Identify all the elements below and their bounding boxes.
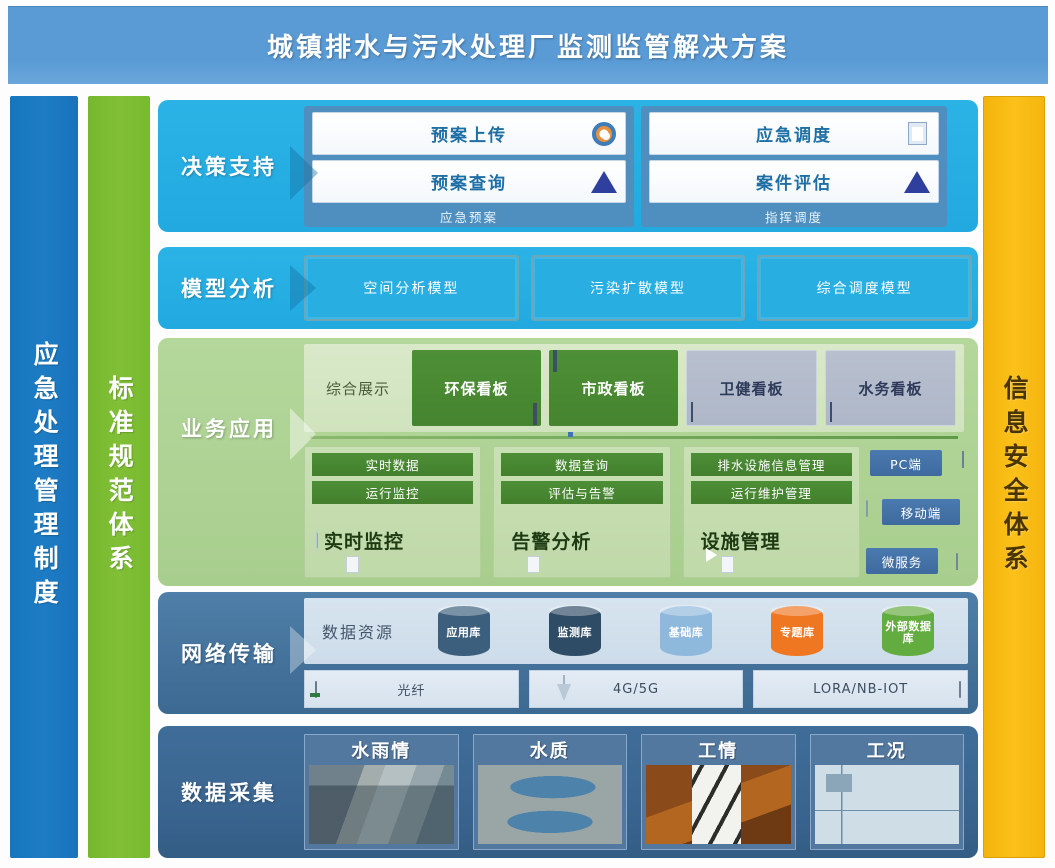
business-column-facility: 排水设施信息管理 运行维护管理 设施管理 — [683, 446, 860, 578]
globe-icon — [316, 531, 318, 550]
data-card-operating-condition-label: 工况 — [811, 735, 964, 765]
laptop-icon — [962, 452, 964, 467]
board-municipal-label: 市政看板 — [581, 378, 645, 399]
data-resource-panel: 数据资源 应用库 监测库 基础库 专题库 — [304, 598, 968, 664]
monitor-icon — [553, 352, 557, 370]
data-card-engineering-status-photo — [646, 765, 791, 844]
business-feature-realtime-monitoring[interactable]: 实时监控 — [312, 509, 473, 571]
layer-network-transmission-label: 网络传输 — [158, 592, 300, 714]
layer-data-collection-label: 数据采集 — [158, 726, 300, 858]
document-icon — [346, 556, 359, 573]
decision-button-plan-upload[interactable]: 预案上传 — [312, 112, 626, 155]
business-feature-facility-management[interactable]: 设施管理 — [691, 509, 852, 571]
data-card-operating-condition-photo — [815, 765, 960, 844]
board-water-affairs[interactable]: 水务看板 — [825, 350, 956, 426]
layer-model-analysis: 模型分析 空间分析模型 污染扩散模型 综合调度模型 — [158, 247, 978, 329]
data-card-water-quality[interactable]: 水质 — [473, 734, 628, 850]
decision-button-emergency-dispatch[interactable]: 应急调度 — [649, 112, 939, 155]
terminal-microservice-label: 微服务 — [882, 552, 923, 571]
layer-model-analysis-label: 模型分析 — [158, 247, 300, 329]
recycle-upload-icon — [591, 121, 617, 147]
network-link-cellular[interactable]: 4G/5G — [529, 670, 744, 708]
decision-group-emergency-plan: 预案上传 预案查询 应急预案 — [304, 106, 634, 227]
database-app[interactable]: 应用库 — [438, 606, 490, 656]
diagram-header: 城镇排水与污水处理厂监测监管解决方案 — [8, 6, 1048, 84]
layer-network-transmission: 网络传输 数据资源 应用库 监测库 基础库 专题库 — [158, 592, 978, 714]
sensor-module-icon — [959, 682, 961, 697]
database-thematic[interactable]: 专题库 — [771, 606, 823, 656]
comprehensive-display-row: 综合展示 环保看板 市政看板 卫健看板 水务看板 — [304, 344, 964, 432]
layer-data-collection: 数据采集 水雨情 水质 工情 工况 — [158, 726, 978, 858]
grid-calculator-icon — [904, 121, 930, 147]
database-monitoring-wrap: 监测库 — [525, 606, 624, 656]
document-icon — [527, 556, 540, 573]
data-card-operating-condition[interactable]: 工况 — [810, 734, 965, 850]
board-environmental-label: 环保看板 — [444, 378, 508, 399]
database-monitoring-label: 监测库 — [558, 623, 593, 639]
layer-decision-support-label: 决策支持 — [158, 100, 300, 232]
mouse-device-icon — [956, 554, 958, 569]
business-pill-assessment-alarm[interactable]: 评估与告警 — [501, 481, 662, 504]
database-external-wrap: 外部数据库 — [859, 606, 958, 656]
database-external-label: 外部数据库 — [882, 617, 934, 645]
model-item-integrated-dispatch[interactable]: 综合调度模型 — [757, 255, 972, 321]
mobile-phone-icon — [866, 501, 868, 516]
decision-button-emergency-dispatch-label: 应急调度 — [756, 121, 832, 146]
network-link-cellular-label: 4G/5G — [613, 682, 659, 697]
display-divider — [310, 436, 958, 439]
database-basic-wrap: 基础库 — [636, 606, 735, 656]
business-column-monitoring: 实时数据 运行监控 实时监控 — [304, 446, 481, 578]
data-card-water-quality-photo — [478, 765, 623, 844]
database-app-wrap: 应用库 — [414, 606, 513, 656]
database-external[interactable]: 外部数据库 — [882, 606, 934, 656]
decision-button-case-assessment-label: 案件评估 — [756, 169, 832, 194]
network-link-lora-label: LORA/NB-IOT — [813, 682, 908, 697]
network-icon — [830, 403, 832, 421]
data-card-water-quality-label: 水质 — [474, 735, 627, 765]
terminal-microservice[interactable]: 微服务 — [866, 548, 938, 574]
pillar-information-security: 信息安全体系 — [983, 96, 1045, 858]
terminal-pc-label: PC端 — [890, 454, 922, 473]
decision-button-case-assessment[interactable]: 案件评估 — [649, 160, 939, 203]
pyramid-icon — [904, 169, 930, 195]
decision-button-plan-query-label: 预案查询 — [431, 169, 507, 194]
pillar-emergency-label: 应急处理管理制度 — [31, 341, 57, 613]
layer-business-application-label: 业务应用 — [158, 398, 300, 458]
decision-button-plan-query[interactable]: 预案查询 — [312, 160, 626, 203]
network-link-lora[interactable]: LORA/NB-IOT — [753, 670, 968, 708]
document-icon — [721, 556, 734, 573]
business-pill-realtime-data[interactable]: 实时数据 — [312, 453, 473, 476]
data-card-engineering-status[interactable]: 工情 — [641, 734, 796, 850]
pillar-security-label: 信息安全体系 — [1001, 375, 1027, 579]
database-thematic-label: 专题库 — [780, 623, 815, 639]
decision-group-command-dispatch: 应急调度 案件评估 指挥调度 — [641, 106, 947, 227]
pyramid-icon — [591, 169, 617, 195]
database-thematic-wrap: 专题库 — [748, 606, 847, 656]
terminal-mobile-label: 移动端 — [901, 503, 942, 522]
pillar-emergency-management: 应急处理管理制度 — [10, 96, 78, 858]
layer-decision-support: 决策支持 预案上传 预案查询 应急预案 应急调度 案件评估 指挥调度 — [158, 100, 978, 232]
database-monitoring[interactable]: 监测库 — [549, 606, 601, 656]
layer-business-application: 业务应用 综合展示 环保看板 市政看板 卫健看板 水务看板 — [158, 338, 978, 586]
network-link-fiber[interactable]: 光纤 — [304, 670, 519, 708]
decision-group-emergency-plan-caption: 应急预案 — [312, 208, 626, 225]
business-feature-realtime-monitoring-label: 实时监控 — [324, 527, 404, 554]
display-divider-dot — [568, 432, 573, 437]
pillar-standards-system: 标准规范体系 — [88, 96, 150, 858]
business-column-list: 实时数据 运行监控 实时监控 数据查询 评估与告警 告警分析 排水设施信息管理 — [304, 446, 860, 578]
board-water-affairs-label: 水务看板 — [858, 378, 922, 399]
terminal-mobile[interactable]: 移动端 — [882, 499, 960, 525]
database-basic[interactable]: 基础库 — [660, 606, 712, 656]
model-item-pollution-diffusion[interactable]: 污染扩散模型 — [531, 255, 746, 321]
terminal-pc[interactable]: PC端 — [870, 450, 942, 476]
business-feature-alarm-analysis[interactable]: 告警分析 — [501, 509, 662, 571]
network-icon — [691, 403, 693, 421]
comprehensive-display-title: 综合展示 — [312, 378, 404, 399]
decision-button-plan-upload-label: 预案上传 — [431, 121, 507, 146]
business-pill-maintenance-management[interactable]: 运行维护管理 — [691, 481, 852, 504]
pillar-standards-label: 标准规范体系 — [106, 375, 132, 579]
architecture-diagram: 城镇排水与污水处理厂监测监管解决方案 应急处理管理制度 标准规范体系 信息安全体… — [0, 0, 1055, 868]
network-link-fiber-label: 光纤 — [397, 680, 425, 699]
data-card-water-rain[interactable]: 水雨情 — [304, 734, 459, 850]
network-link-list: 光纤 4G/5G LORA/NB-IOT — [304, 670, 968, 708]
terminal-list: PC端 移动端 微服务 — [864, 450, 968, 574]
database-app-label: 应用库 — [446, 623, 481, 639]
data-card-water-rain-label: 水雨情 — [305, 735, 458, 765]
data-card-engineering-status-label: 工情 — [642, 735, 795, 765]
board-health[interactable]: 卫健看板 — [686, 350, 817, 426]
data-card-list: 水雨情 水质 工情 工况 — [304, 734, 964, 850]
fiber-cable-icon — [315, 682, 317, 697]
model-item-list: 空间分析模型 污染扩散模型 综合调度模型 — [304, 255, 972, 321]
decision-group-command-dispatch-caption: 指挥调度 — [649, 208, 939, 225]
business-pill-data-query[interactable]: 数据查询 — [501, 453, 662, 476]
data-resource-title: 数据资源 — [314, 619, 402, 643]
board-health-label: 卫健看板 — [719, 378, 783, 399]
page-title: 城镇排水与污水处理厂监测监管解决方案 — [267, 27, 789, 64]
business-feature-alarm-analysis-label: 告警分析 — [511, 527, 591, 554]
board-municipal[interactable]: 市政看板 — [549, 350, 678, 426]
model-item-spatial[interactable]: 空间分析模型 — [304, 255, 519, 321]
board-environmental[interactable]: 环保看板 — [412, 350, 541, 426]
business-pill-operation-monitor[interactable]: 运行监控 — [312, 481, 473, 504]
database-basic-label: 基础库 — [669, 623, 704, 639]
business-pill-drainage-facility-info[interactable]: 排水设施信息管理 — [691, 453, 852, 476]
business-column-alarm: 数据查询 评估与告警 告警分析 — [493, 446, 670, 578]
monitor-icon — [533, 405, 537, 423]
data-card-water-rain-photo — [309, 765, 454, 844]
